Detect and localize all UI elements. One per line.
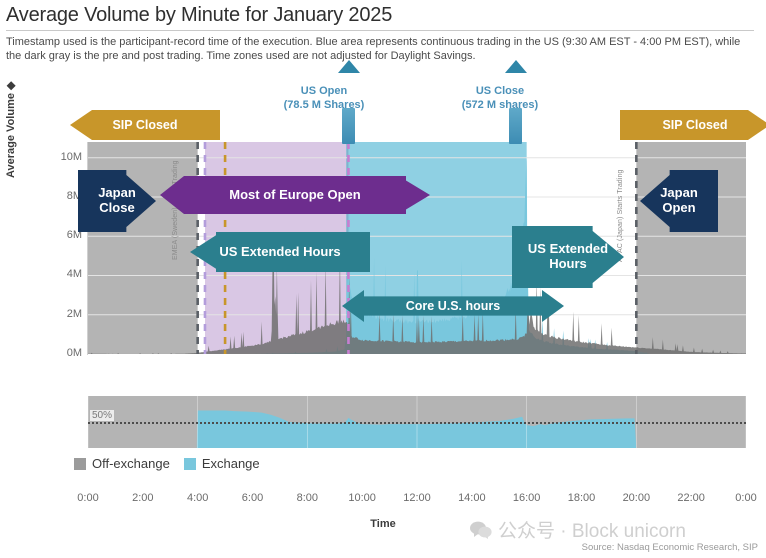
x-tick-label: 16:00	[513, 492, 541, 504]
fifty-percent-label: 50%	[90, 410, 114, 421]
us-open-arrow-icon	[338, 60, 360, 73]
title-divider	[6, 30, 754, 31]
x-tick-label: 18:00	[568, 492, 596, 504]
emea-start-label: EMEA (Sweden) Starts Trading	[172, 160, 179, 260]
x-tick-label: 22:00	[677, 492, 705, 504]
legend-item[interactable]: Exchange	[184, 456, 260, 471]
y-axis-title: Average Volume ◆	[4, 82, 17, 179]
x-tick-label: 2:00	[132, 492, 153, 504]
wechat-icon	[470, 521, 492, 539]
chart-subtitle: Timestamp used is the participant-record…	[6, 35, 756, 63]
watermark: 公众号 · Block unicorn	[470, 516, 686, 543]
legend-label: Exchange	[202, 456, 260, 471]
us-close-marker	[509, 108, 522, 144]
x-tick-label: 14:00	[458, 492, 486, 504]
us-open-callout-value: (78.5 M Shares)	[244, 98, 404, 112]
us-extended-left-label: US Extended Hours	[219, 245, 340, 260]
us-open-callout: US Open (78.5 M Shares)	[244, 84, 404, 112]
sip-closed-right-label: SIP Closed	[662, 118, 727, 132]
us-close-callout: US Close (572 M shares)	[420, 84, 580, 112]
y-tick-label: 4M	[36, 268, 82, 280]
legend-label: Off-exchange	[92, 456, 170, 471]
core-us-hours-label: Core U.S. hours	[406, 299, 500, 313]
europe-open-annotation: Most of Europe Open	[160, 176, 430, 214]
chart-header: Average Volume by Minute for January 202…	[6, 2, 760, 63]
legend-item[interactable]: Off-exchange	[74, 456, 170, 471]
us-open-callout-title: US Open	[244, 84, 404, 98]
us-close-callout-value: (572 M shares)	[420, 98, 580, 112]
x-tick-label: 20:00	[623, 492, 651, 504]
x-tick-label: 8:00	[297, 492, 318, 504]
x-tick-label: 0:00	[735, 492, 756, 504]
y-tick-label: 0M	[36, 347, 82, 359]
us-close-callout-title: US Close	[420, 84, 580, 98]
fifty-percent-reference-line	[88, 422, 746, 424]
x-tick-label: 12:00	[403, 492, 431, 504]
page-title: Average Volume by Minute for January 202…	[6, 2, 760, 28]
japan-close-label: Japan Close	[98, 186, 136, 216]
x-tick-label: 4:00	[187, 492, 208, 504]
sip-closed-right-banner: SIP Closed	[620, 110, 766, 140]
x-tick-label: 0:00	[77, 492, 98, 504]
volume-area-chart	[88, 142, 746, 354]
europe-open-label: Most of Europe Open	[229, 188, 360, 203]
source-note: Source: Nasdaq Economic Research, SIP	[582, 542, 758, 553]
y-tick-label: 10M	[36, 151, 82, 163]
y-tick-label: 6M	[36, 229, 82, 241]
us-extended-right-label: US Extended Hours	[528, 242, 608, 272]
exchange-share-panel: 50%	[88, 396, 746, 448]
x-tick-label: 6:00	[242, 492, 263, 504]
y-tick-label: 8M	[36, 190, 82, 202]
us-close-arrow-icon	[505, 60, 527, 73]
us-open-marker	[342, 108, 355, 144]
chart-legend: Off-exchangeExchange	[74, 456, 260, 471]
x-axis-ticks: 0:002:004:006:008:0010:0012:0014:0016:00…	[88, 492, 746, 508]
sip-closed-left-banner: SIP Closed	[70, 110, 220, 140]
japan-open-label: Japan Open	[660, 186, 698, 216]
us-extended-hours-left-annotation: US Extended Hours	[190, 232, 370, 272]
apac-start-label: APAC (Japan) Starts Trading	[617, 170, 624, 262]
y-tick-label: 2M	[36, 308, 82, 320]
watermark-text: 公众号 · Block unicorn	[498, 516, 686, 543]
legend-swatch-icon	[184, 458, 196, 470]
y-axis-ticks: 0M2M4M6M8M10M	[30, 142, 82, 354]
sip-closed-left-label: SIP Closed	[112, 118, 177, 132]
main-plot	[88, 142, 746, 354]
legend-swatch-icon	[74, 458, 86, 470]
x-tick-label: 10:00	[348, 492, 376, 504]
